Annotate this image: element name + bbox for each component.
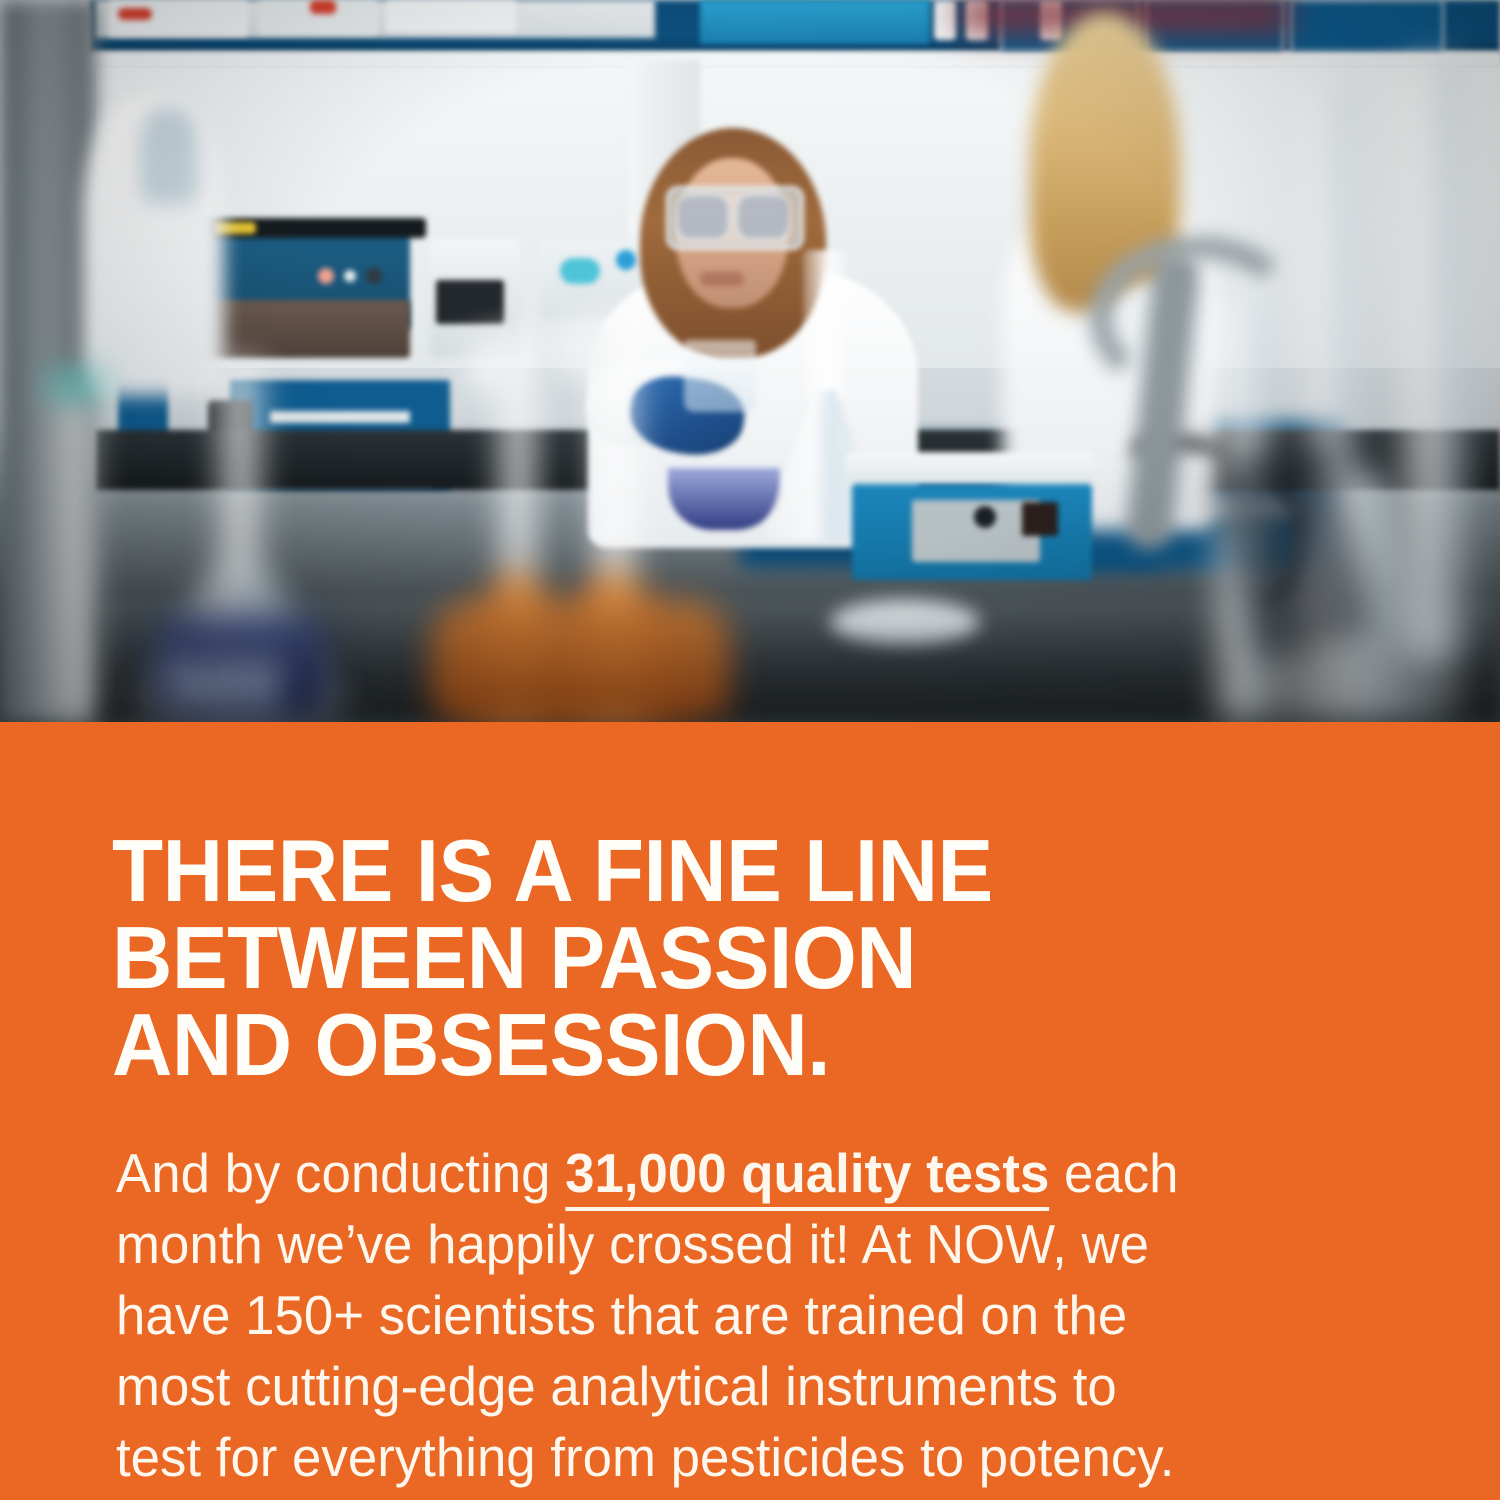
- body-line-5: test for everything from pesticides to p…: [116, 1422, 1335, 1493]
- page-title: THERE IS A FINE LINE BETWEEN PASSION AND…: [112, 827, 1328, 1088]
- body-paragraph: And by conducting 31,000 quality tests e…: [116, 1138, 1335, 1493]
- photo-vignette: [0, 0, 1500, 722]
- headline-line-1: THERE IS A FINE LINE: [112, 827, 1328, 914]
- headline-line-2: BETWEEN PASSION: [112, 914, 1328, 1001]
- headline-line-3: AND OBSESSION.: [112, 1001, 1328, 1088]
- body-line-3: have 150+ scientists that are trained on…: [116, 1280, 1335, 1351]
- marketing-poster: 500 THERE IS A FINE LINE BETWEEN PASSION…: [0, 0, 1500, 1500]
- body-line-1: And by conducting 31,000 quality tests e…: [116, 1138, 1335, 1209]
- body-line-2: month we’ve happily crossed it! At NOW, …: [116, 1209, 1335, 1280]
- body-line-4: most cutting-edge analytical instruments…: [116, 1351, 1335, 1422]
- body-text-a: And by conducting: [116, 1142, 565, 1204]
- stat-quality-tests: 31,000 quality tests: [565, 1142, 1049, 1211]
- laboratory-scientists-photo: 500: [0, 0, 1500, 722]
- body-text-b: each: [1049, 1142, 1178, 1204]
